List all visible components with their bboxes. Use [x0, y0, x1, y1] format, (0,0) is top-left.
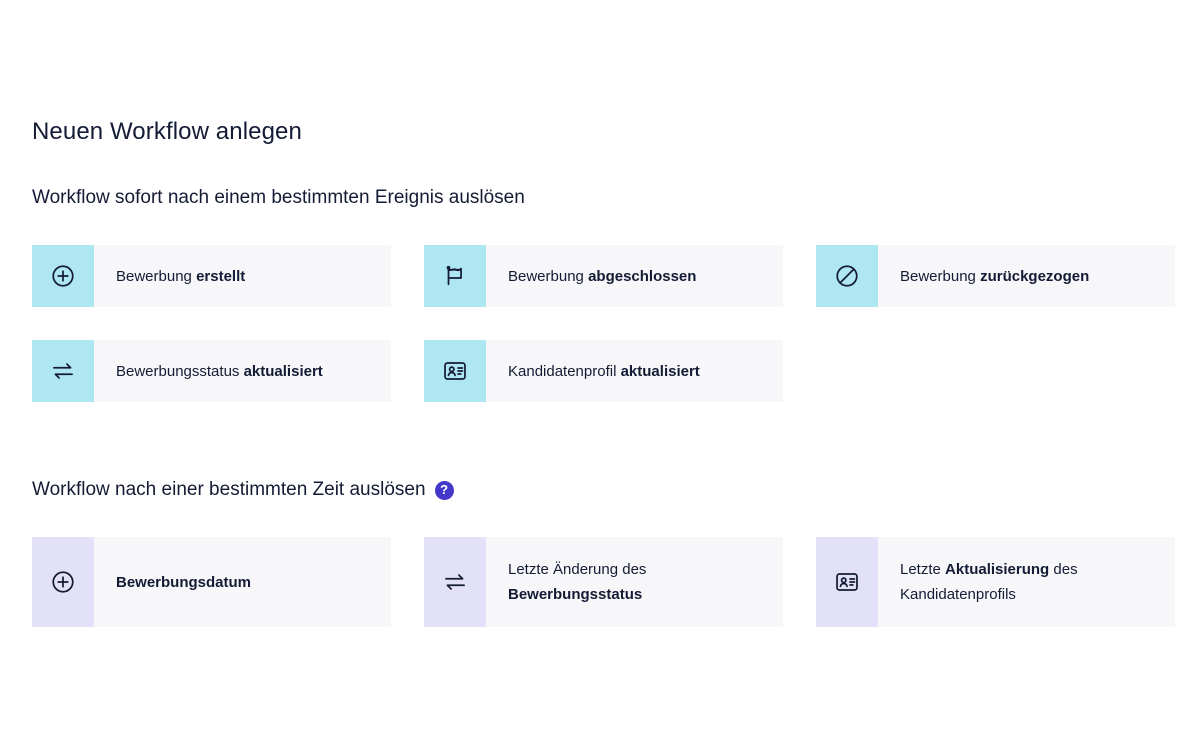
exchange-arrows-icon [424, 537, 486, 627]
plus-circle-icon [32, 537, 94, 627]
section-heading-text: Workflow nach einer bestimmten Zeit ausl… [32, 477, 426, 503]
section-heading-text: Workflow sofort nach einem bestimmten Er… [32, 185, 525, 211]
trigger-card-kandidatenprofil-aktualisiert[interactable]: Kandidatenprofil aktualisiert [424, 340, 783, 402]
section-event-trigger: Workflow sofort nach einem bestimmten Er… [0, 185, 1200, 211]
time-card-letzte-aktualisierung-kandidatenprofils[interactable]: Letzte Aktualisierung des Kandidatenprof… [816, 537, 1175, 627]
trigger-card-label: Bewerbungsstatus aktualisiert [94, 340, 391, 402]
trigger-card-label: Kandidatenprofil aktualisiert [486, 340, 783, 402]
page-title: Neuen Workflow anlegen [32, 116, 302, 148]
trigger-card-label: Bewerbung erstellt [94, 245, 391, 307]
time-card-label: Letzte Aktualisierung des Kandidatenprof… [878, 537, 1175, 627]
prohibited-circle-icon [816, 245, 878, 307]
trigger-card-bewerbung-abgeschlossen[interactable]: Bewerbung abgeschlossen [424, 245, 783, 307]
section-heading-event-trigger: Workflow sofort nach einem bestimmten Er… [32, 185, 1200, 211]
plus-circle-icon [32, 245, 94, 307]
trigger-card-bewerbung-zurueckgezogen[interactable]: Bewerbung zurückgezogen [816, 245, 1175, 307]
trigger-card-bewerbung-erstellt[interactable]: Bewerbung erstellt [32, 245, 391, 307]
section-heading-time-trigger: Workflow nach einer bestimmten Zeit ausl… [32, 477, 1200, 503]
time-card-letzte-aenderung-bewerbungsstatus[interactable]: Letzte Änderung des Bewerbungsstatus [424, 537, 783, 627]
help-circle-icon[interactable]: ? [435, 481, 454, 500]
id-card-icon [816, 537, 878, 627]
trigger-card-bewerbungsstatus-aktualisiert[interactable]: Bewerbungsstatus aktualisiert [32, 340, 391, 402]
event-trigger-card-grid: Bewerbung erstellt Bewerbung abgeschloss… [32, 245, 1176, 402]
time-card-label: Bewerbungsdatum [94, 537, 391, 627]
trigger-card-label: Bewerbung abgeschlossen [486, 245, 783, 307]
workflow-create-page: Neuen Workflow anlegen Workflow sofort n… [0, 0, 1200, 750]
trigger-card-label: Bewerbung zurückgezogen [878, 245, 1175, 307]
flag-icon [424, 245, 486, 307]
time-trigger-card-grid: Bewerbungsdatum Letzte Änderung des Bewe… [32, 537, 1176, 627]
id-card-icon [424, 340, 486, 402]
exchange-arrows-icon [32, 340, 94, 402]
time-card-bewerbungsdatum[interactable]: Bewerbungsdatum [32, 537, 391, 627]
time-card-label: Letzte Änderung des Bewerbungsstatus [486, 537, 783, 627]
section-time-trigger: Workflow nach einer bestimmten Zeit ausl… [0, 477, 1200, 503]
